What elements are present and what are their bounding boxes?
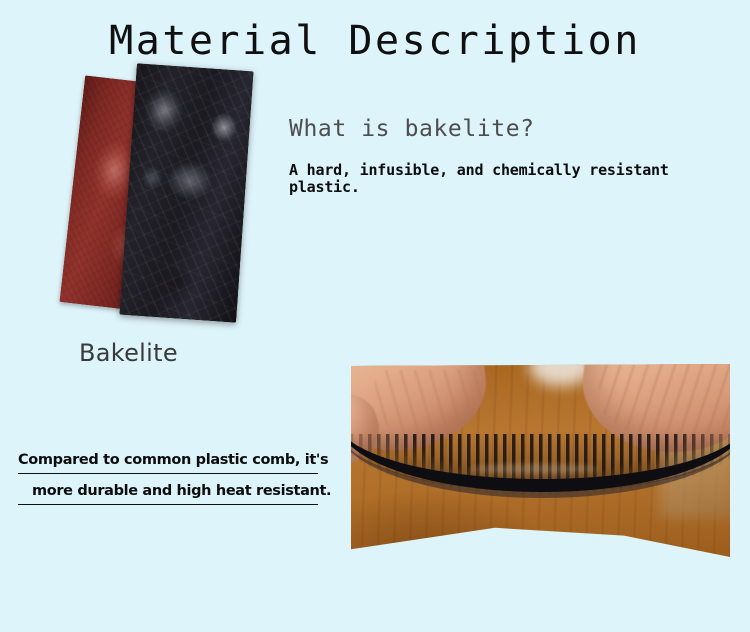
slide-canvas: Material Description Bakelite What is ba… [0, 0, 750, 632]
comparison-note-line-1: Compared to common plastic comb, it's [18, 452, 318, 474]
comparison-note: Compared to common plastic comb, it's mo… [18, 452, 318, 505]
bending-comb-image [351, 364, 730, 559]
question-heading: What is bakelite? [289, 116, 535, 142]
bakelite-sheet-black [119, 63, 253, 323]
comb-highlight [469, 464, 599, 474]
bakelite-sheets-image [62, 58, 272, 338]
answer-text: A hard, infusible, and chemically resist… [289, 162, 689, 197]
bakelite-caption: Bakelite [79, 339, 178, 367]
comparison-note-line-2: more durable and high heat resistant. [18, 483, 318, 505]
